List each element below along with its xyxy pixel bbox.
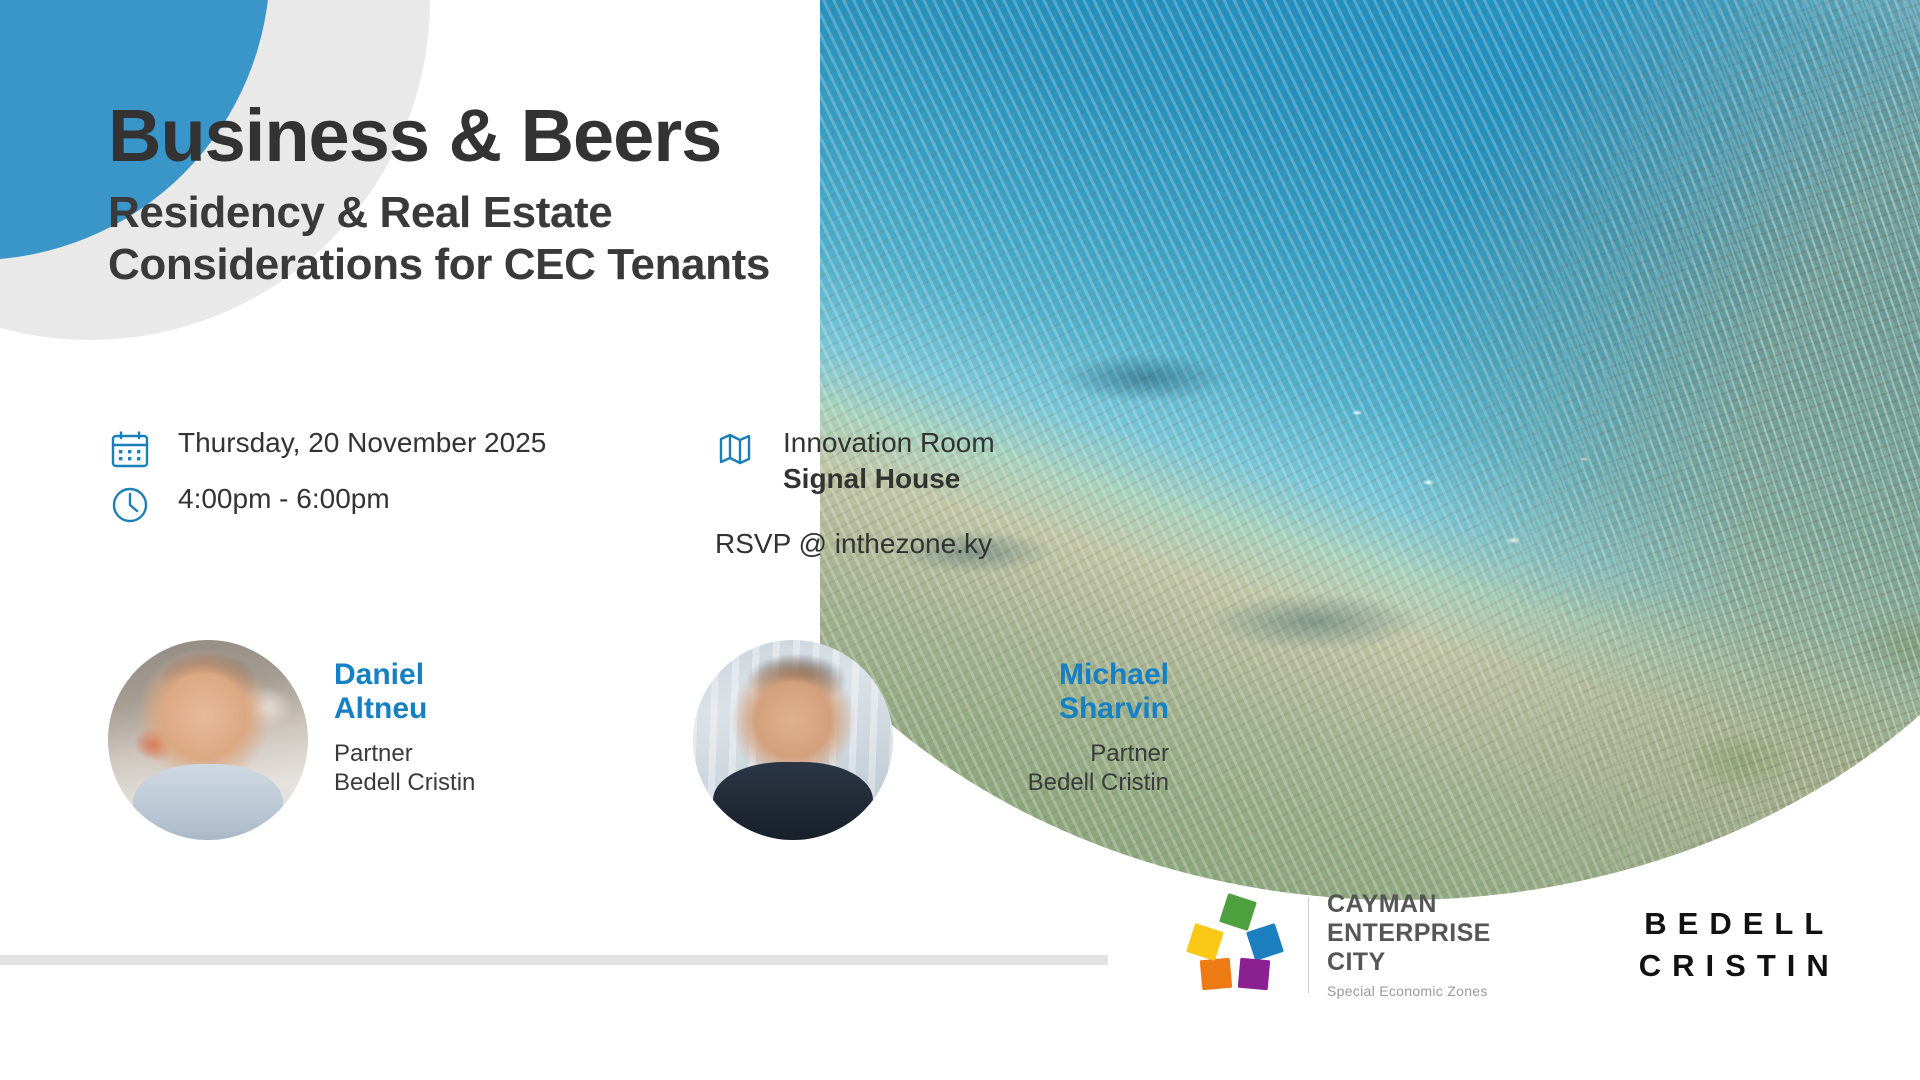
event-venue: Innovation Room Signal House xyxy=(783,425,995,498)
speaker-card: Michael Sharvin Partner Bedell Cristin xyxy=(693,640,1169,840)
avatar xyxy=(108,640,308,840)
event-subtitle-line-1: Residency & Real Estate xyxy=(108,188,612,237)
cec-word-line-3: CITY xyxy=(1327,948,1386,976)
detail-row-time: 4:00pm - 6:00pm xyxy=(108,481,608,527)
headline-block: Business & Beers Residency & Real Estate… xyxy=(108,98,938,291)
cayman-enterprise-city-logo: CAYMAN ENTERPRISE CITY Special Economic … xyxy=(1180,890,1491,999)
event-date: Thursday, 20 November 2025 xyxy=(178,425,546,461)
cec-word-line-1: CAYMAN xyxy=(1327,890,1437,918)
speaker-role: Partner Bedell Cristin xyxy=(919,739,1169,798)
speaker-last-name: Sharvin xyxy=(1059,692,1169,725)
bedell-line-2: CRISTIN xyxy=(1639,948,1840,983)
event-subtitle: Residency & Real Estate Considerations f… xyxy=(108,187,938,291)
cec-word-line-2: ENTERPRISE xyxy=(1327,919,1491,947)
speaker-name: Daniel Altneu xyxy=(334,658,584,725)
bedell-line-1: BEDELL xyxy=(1644,906,1834,941)
speaker-title: Partner xyxy=(334,740,413,767)
clock-icon xyxy=(108,483,152,527)
footer-divider xyxy=(0,955,1108,965)
detail-row-date: Thursday, 20 November 2025 xyxy=(108,425,608,471)
event-subtitle-line-2: Considerations for CEC Tenants xyxy=(108,240,770,289)
detail-row-venue: Innovation Room Signal House xyxy=(713,425,1133,498)
calendar-icon xyxy=(108,427,152,471)
map-icon xyxy=(713,427,757,471)
cec-tagline: Special Economic Zones xyxy=(1327,983,1491,999)
venue-building: Signal House xyxy=(783,463,960,494)
photo-land-area xyxy=(1286,0,1920,900)
speaker-card: Daniel Altneu Partner Bedell Cristin xyxy=(108,640,584,840)
speaker-name: Michael Sharvin xyxy=(919,658,1169,725)
speaker-info: Daniel Altneu Partner Bedell Cristin xyxy=(334,640,584,798)
speaker-first-name: Michael xyxy=(1059,658,1169,691)
rsvp-text: RSVP @ inthezone.ky xyxy=(715,528,1133,560)
speaker-first-name: Daniel xyxy=(334,658,424,691)
speaker-info: Michael Sharvin Partner Bedell Cristin xyxy=(919,640,1169,798)
avatar xyxy=(693,640,893,840)
details-column-right: Innovation Room Signal House RSVP @ inth… xyxy=(713,425,1133,560)
venue-room: Innovation Room xyxy=(783,427,995,458)
event-poster: Business & Beers Residency & Real Estate… xyxy=(0,0,1920,1080)
logo-divider xyxy=(1308,897,1309,993)
footer-logos: CAYMAN ENTERPRISE CITY Special Economic … xyxy=(1180,890,1840,999)
speaker-role: Partner Bedell Cristin xyxy=(334,739,584,798)
event-time: 4:00pm - 6:00pm xyxy=(178,481,390,517)
speaker-title: Partner xyxy=(1090,740,1169,767)
cec-pinwheel-icon xyxy=(1180,891,1288,999)
event-title: Business & Beers xyxy=(108,98,938,175)
speaker-company: Bedell Cristin xyxy=(334,769,475,796)
bedell-cristin-logo: BEDELL CRISTIN xyxy=(1639,903,1840,987)
cec-wordmark: CAYMAN ENTERPRISE CITY Special Economic … xyxy=(1327,890,1491,999)
details-column-left: Thursday, 20 November 2025 4:00pm - 6:00… xyxy=(108,425,608,537)
speaker-last-name: Altneu xyxy=(334,692,427,725)
speaker-company: Bedell Cristin xyxy=(1028,769,1169,796)
